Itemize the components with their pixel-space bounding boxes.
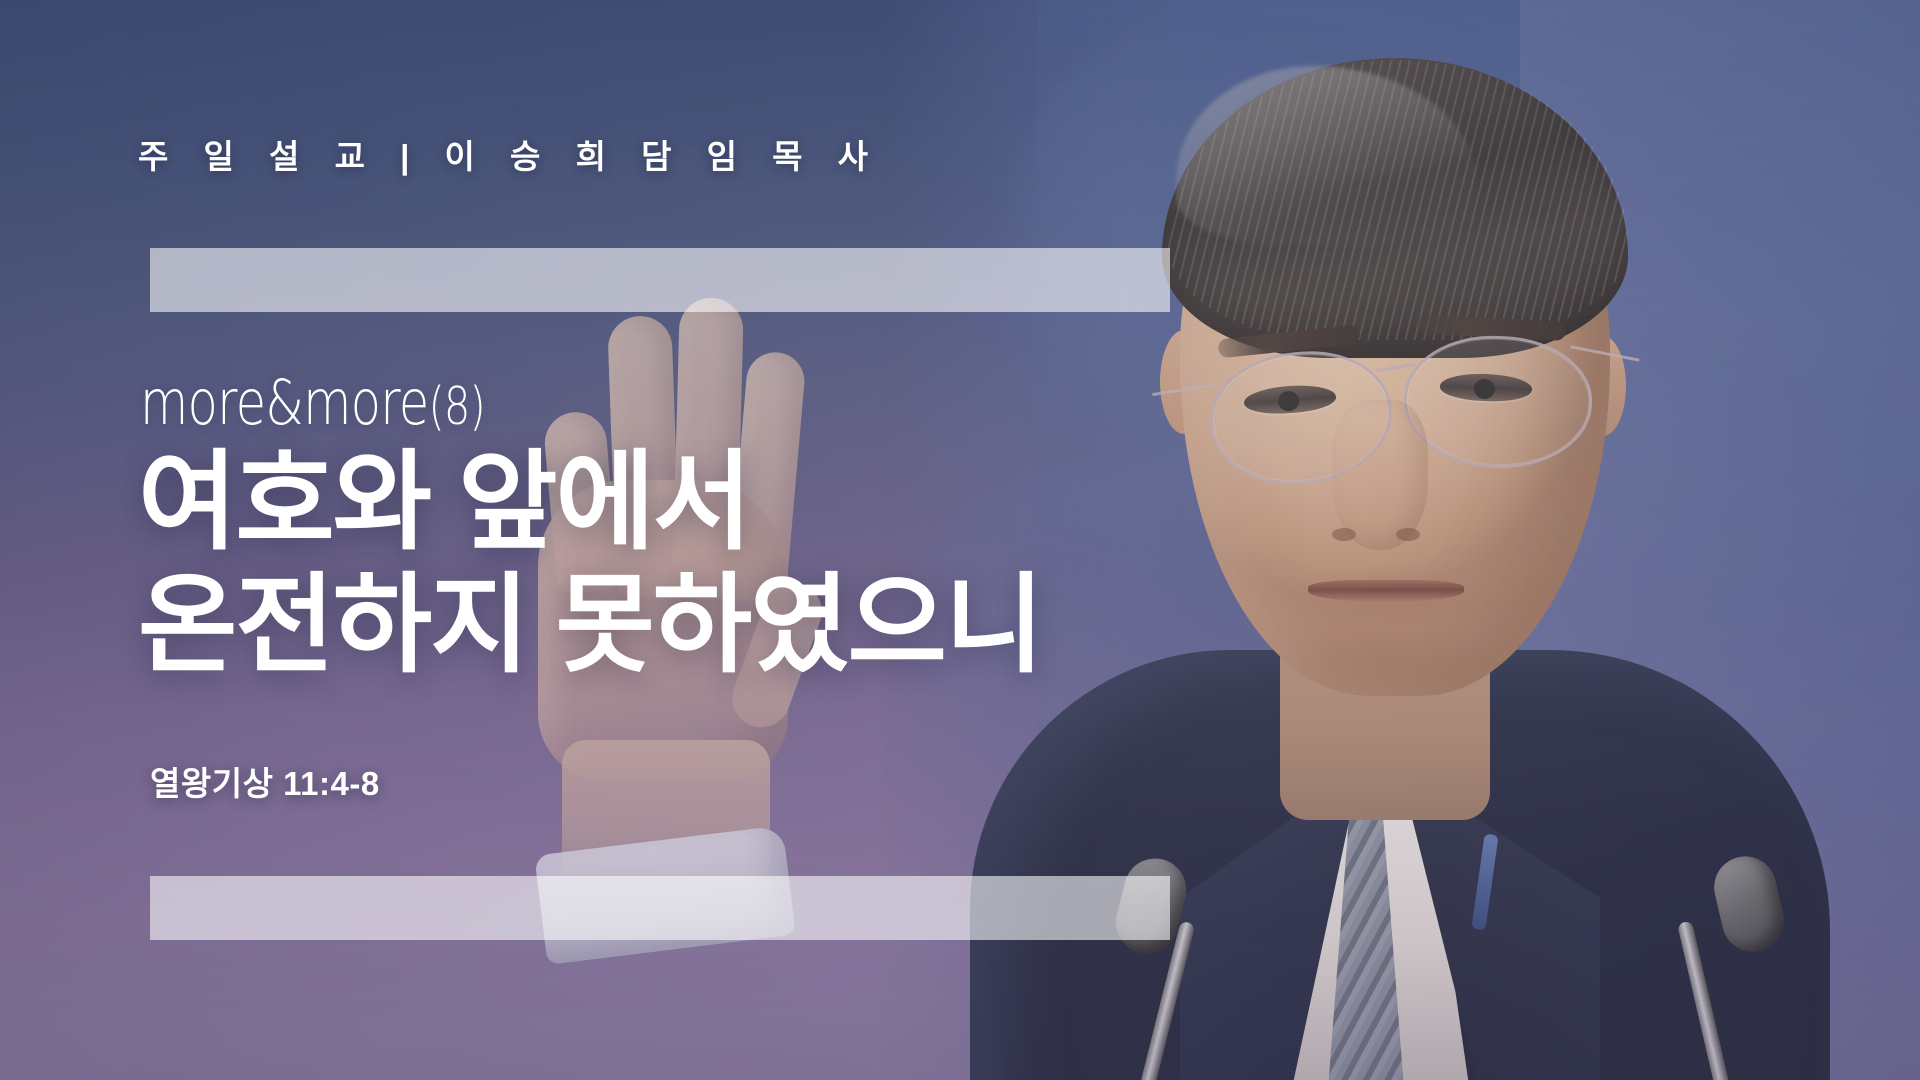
page-title: 여호와 앞에서 온전하지 못하였으니 <box>138 440 1042 686</box>
series-title: more&more(8) <box>140 372 485 434</box>
title-line-2: 온전하지 못하였으니 <box>138 563 1042 686</box>
sermon-meta-line: 주 일 설 교 | 이 승 희 담 임 목 사 <box>138 140 881 173</box>
text-overlay: 주 일 설 교 | 이 승 희 담 임 목 사 more&more(8) 여호와… <box>0 0 1920 1080</box>
series-number: (8) <box>428 377 485 437</box>
decorative-band-bottom <box>150 876 1170 940</box>
title-line-1: 여호와 앞에서 <box>138 440 1042 563</box>
slide-canvas: 주 일 설 교 | 이 승 희 담 임 목 사 more&more(8) 여호와… <box>0 0 1920 1080</box>
decorative-band-top <box>150 248 1170 312</box>
series-name: more&more <box>140 366 428 439</box>
scripture-reference: 열왕기상 11:4-8 <box>150 757 380 805</box>
